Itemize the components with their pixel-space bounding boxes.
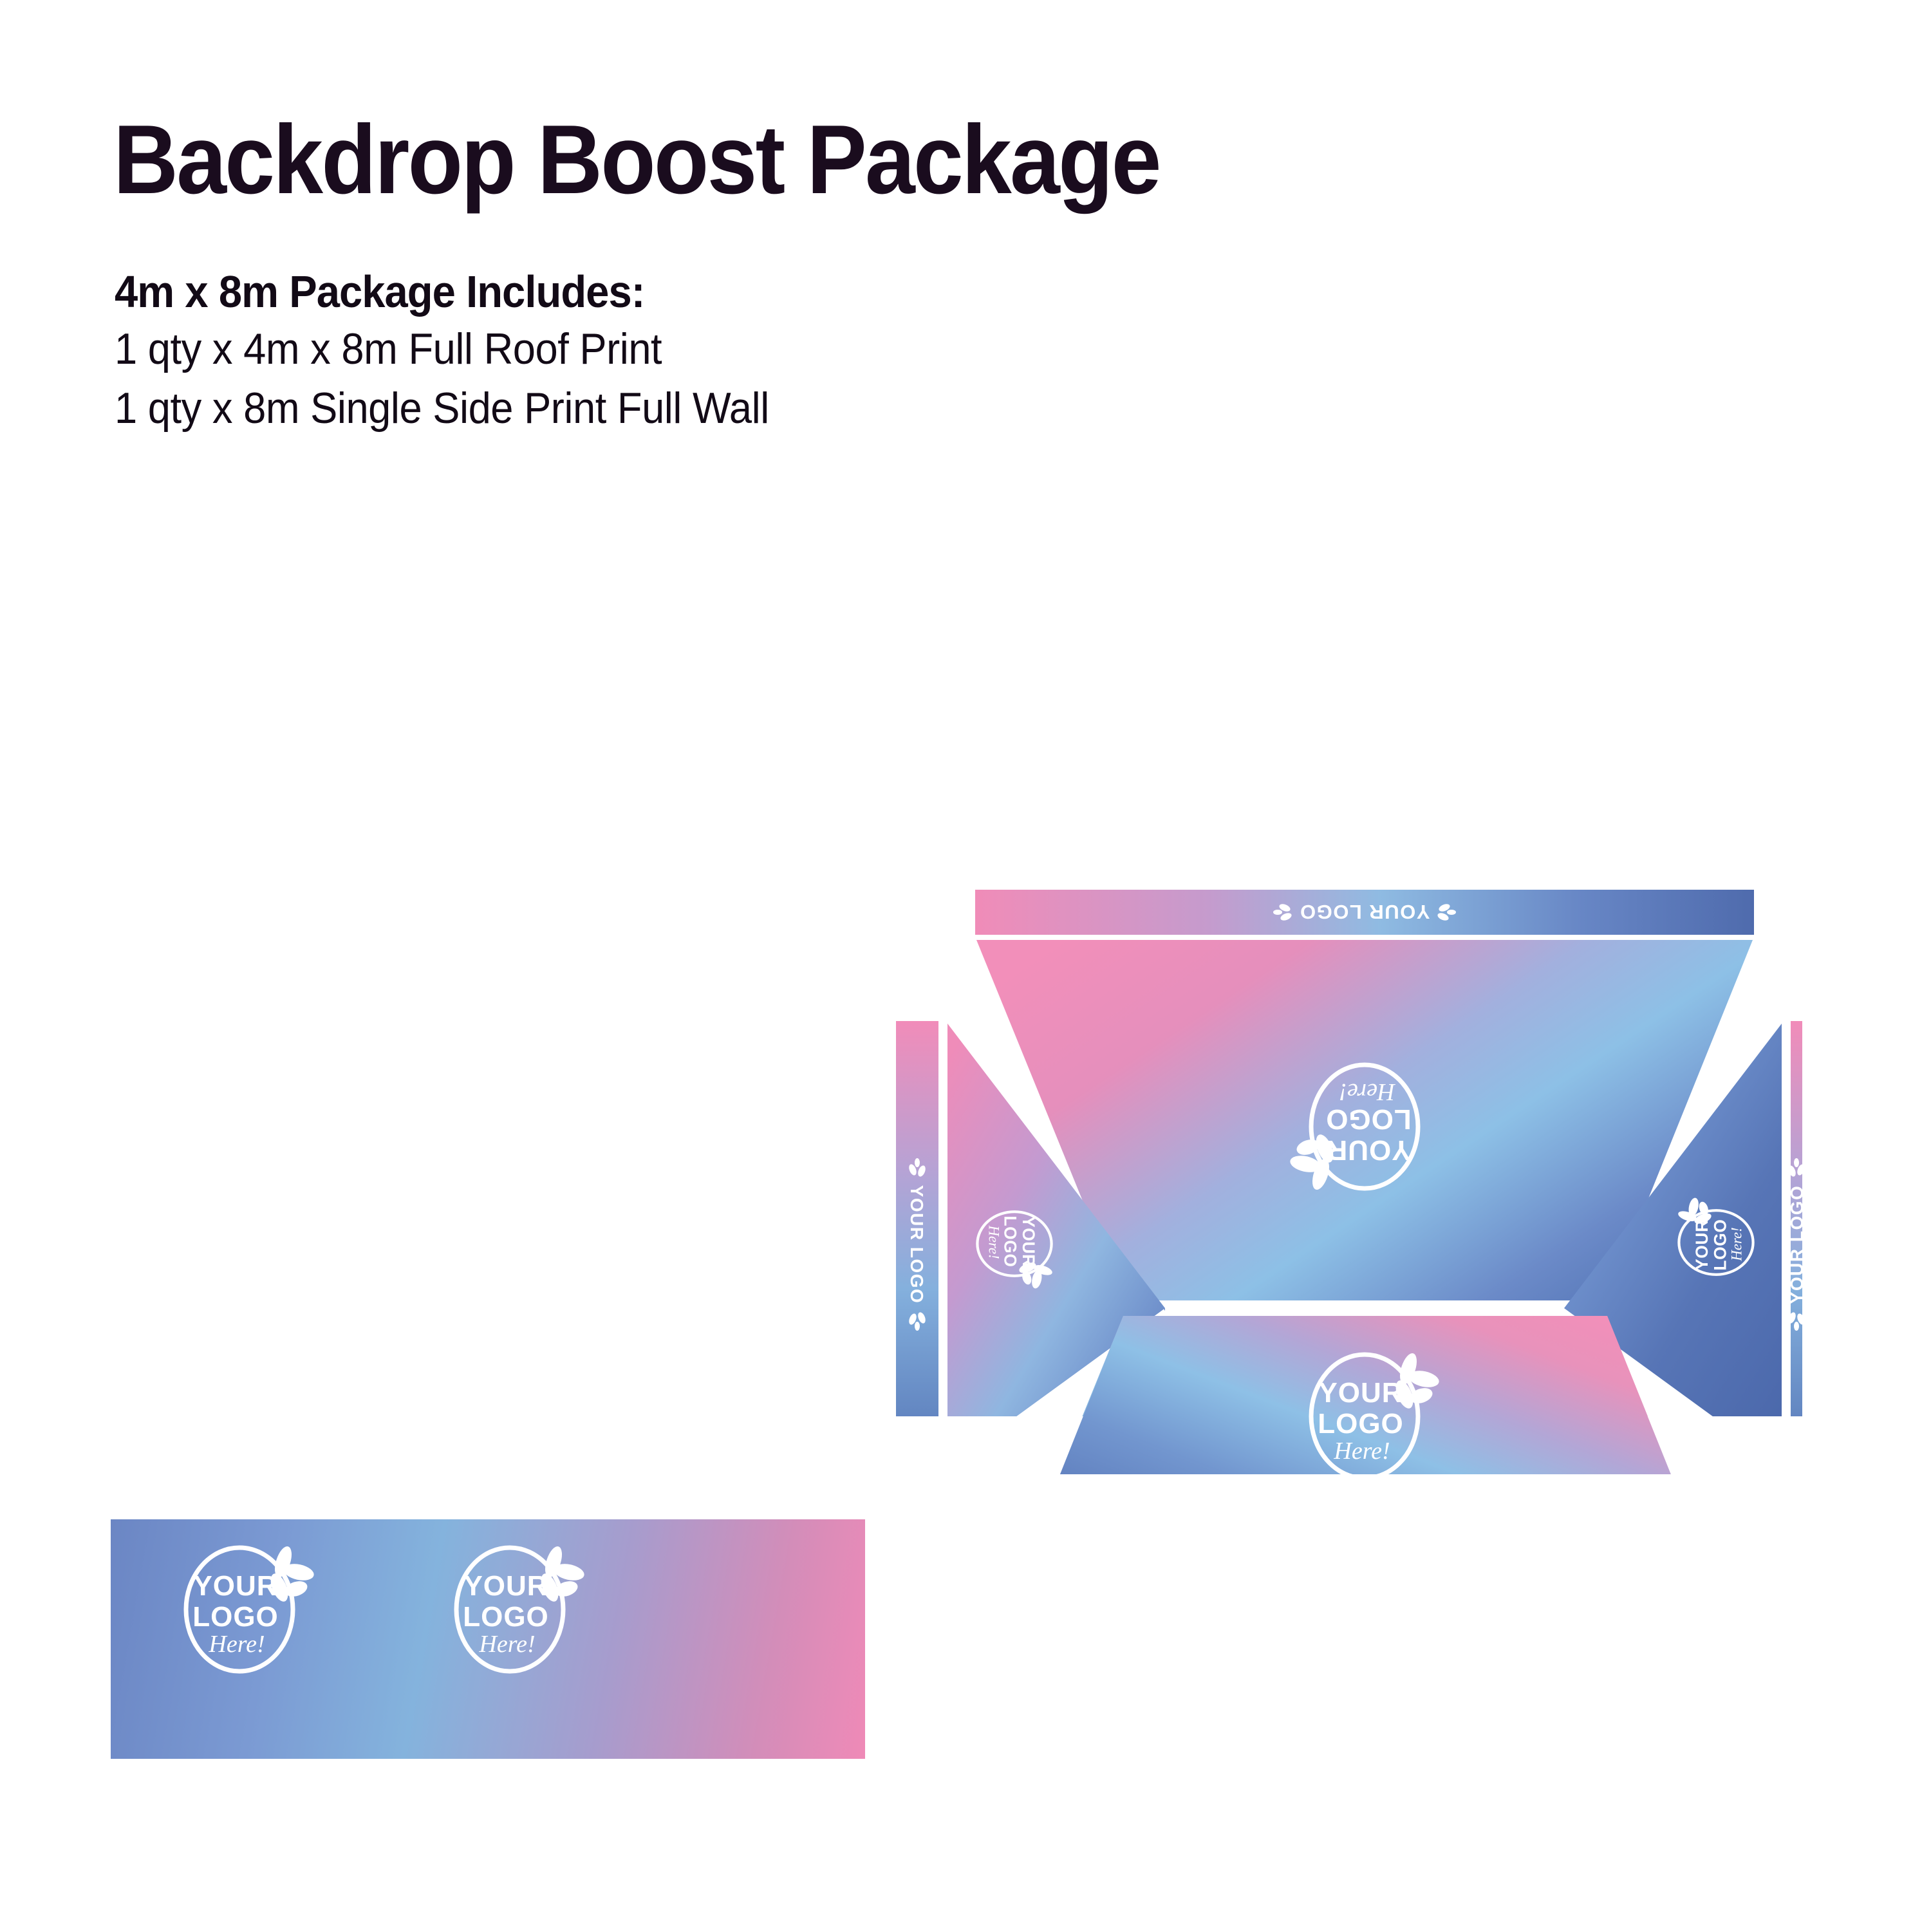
valance-label: YOUR LOGO bbox=[907, 1185, 927, 1304]
includes-item-2: 1 qty x 8m Single Side Print Full Wall bbox=[115, 386, 769, 430]
roof-bottom-panel-visible bbox=[1045, 1316, 1686, 1474]
includes-heading: 4m x 8m Package Includes: bbox=[115, 269, 644, 314]
artboard: Backdrop Boost Package 4m x 8m Package I… bbox=[0, 0, 1931, 1932]
includes-item-1: 1 qty x 4m x 8m Full Roof Print bbox=[115, 327, 662, 371]
wall-print-banner: YOUR LOGO Here! bbox=[111, 1519, 865, 1759]
page-title: Backdrop Boost Package bbox=[113, 111, 1160, 209]
roof-print-diagram: YOUR LOGO Here! bbox=[888, 876, 1802, 1474]
roof-left-valance: YOUR LOGO bbox=[896, 1021, 938, 1468]
valance-label: YOUR LOGO bbox=[1300, 901, 1430, 923]
wall-logo-2 bbox=[456, 1544, 586, 1671]
roof-right-valance: YOUR LOGO bbox=[1787, 1021, 1802, 1468]
valance-label: YOUR LOGO bbox=[1787, 1185, 1802, 1304]
wall-logo-1 bbox=[186, 1544, 315, 1671]
roof-top-valance: YOUR LOGO bbox=[975, 890, 1754, 935]
